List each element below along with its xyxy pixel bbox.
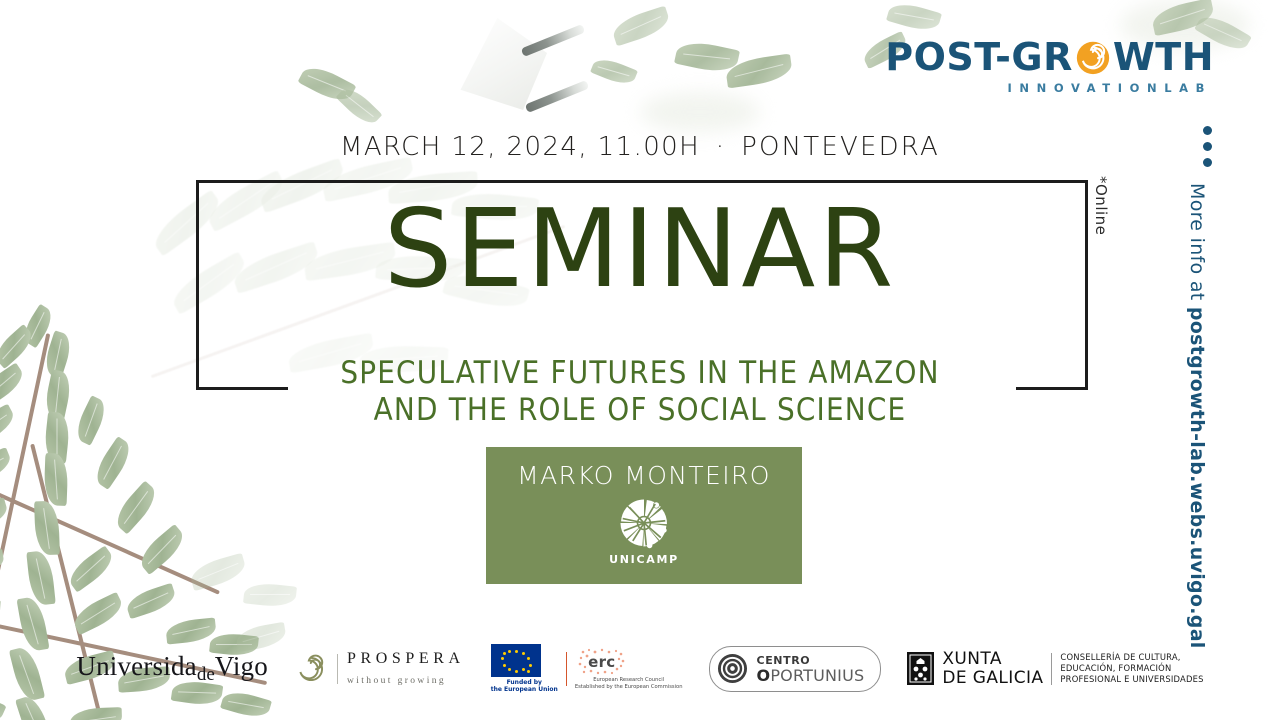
leaf-icon	[610, 6, 673, 47]
spiral-icon	[294, 652, 328, 686]
erc-caption-line-1: European Research Council	[593, 677, 664, 683]
online-note: *Online	[1092, 176, 1110, 235]
xunta-name-line-2: DE GALICIA	[942, 668, 1043, 688]
spiral-icon	[1074, 38, 1112, 76]
uvigo-part1: Universida	[76, 651, 196, 681]
post-growth-logo: POST-GR WTH INNOVATIONLAB	[885, 38, 1214, 95]
erc-caption-line-2: Established by the European Commission	[575, 684, 683, 690]
unicamp-spiral-icon	[616, 495, 672, 551]
eu-flag-icon	[491, 644, 541, 677]
website-url[interactable]: postgrowth-lab.webs.uvigo.gal	[1186, 307, 1208, 649]
more-info-rail: More info at postgrowth-lab.webs.uvigo.g…	[1186, 126, 1226, 649]
date-separator: ·	[710, 132, 732, 162]
leaf-icon	[336, 83, 383, 129]
footer-logo-strip: UniversidadeVigo PROSPERA without growin…	[0, 644, 1280, 694]
oportunius-accent: O	[757, 666, 771, 685]
target-circles-icon	[717, 653, 748, 684]
eu-caption-line-1: Funded by	[507, 679, 542, 686]
uvigo-part2: de	[197, 664, 215, 685]
leaf-icon	[725, 54, 794, 89]
event-date-location: MARCH 12, 2024, 11.00H · PONTEVEDRA	[0, 132, 1280, 162]
three-dots-icon	[1186, 126, 1226, 167]
eu-erc-logos: Funded by the European Union	[491, 644, 683, 694]
oportunius-logo: CENTRO OPORTUNIUS	[709, 646, 882, 693]
uvigo-part3: Vigo	[215, 651, 268, 681]
uvigo-logo: UniversidadeVigo	[76, 651, 268, 686]
logo-text-right: WTH	[1113, 38, 1214, 76]
logo-text-left: POST-GR	[885, 38, 1073, 76]
erc-word: erc	[575, 647, 629, 677]
speaker-name: MARKO MONTEIRO	[517, 461, 771, 490]
more-info-text: More info at postgrowth-lab.webs.uvigo.g…	[1186, 183, 1208, 649]
plug-pin	[525, 80, 590, 113]
plug-illustration	[455, 18, 547, 110]
post-growth-wordmark: POST-GR WTH	[885, 38, 1214, 76]
leaf-icon	[188, 553, 248, 592]
leaf-icon	[298, 61, 357, 108]
eu-flag-logo: Funded by the European Union	[491, 644, 558, 694]
divider	[337, 654, 338, 684]
speaker-card: MARKO MONTEIRO	[486, 447, 802, 584]
prospera-logo: PROSPERA without growing	[294, 649, 465, 689]
page-title: SEMINAR	[0, 195, 1280, 305]
leaf-icon	[1150, 0, 1216, 36]
seminar-poster: POST-GR WTH INNOVATIONLAB MARCH 12, 2024…	[0, 0, 1280, 720]
subtitle-line-2: AND THE ROLE OF SOCIAL SCIENCE	[0, 392, 1280, 429]
leaf-icon	[243, 581, 297, 608]
oportunius-top: CENTRO	[757, 654, 811, 667]
soft-blob	[640, 92, 760, 132]
prospera-tagline: without growing	[347, 676, 446, 686]
xunta-name-line-1: XUNTA	[942, 649, 1002, 669]
leaf-icon	[886, 0, 942, 35]
more-info-lead: More info at	[1186, 183, 1208, 307]
divider	[1051, 653, 1052, 685]
xunta-dept-line-1: CONSELLERÍA DE CULTURA,	[1060, 652, 1180, 662]
xunta-dept-line-3: PROFESIONAL E UNIVERSIDADES	[1060, 674, 1203, 684]
oportunius-bottom: PORTUNIUS	[770, 666, 864, 685]
frame-edge-top	[196, 180, 1088, 183]
xunta-shield-icon	[907, 652, 934, 685]
erc-logo: erc European Research Council Establishe…	[575, 647, 683, 691]
prospera-name: PROSPERA	[347, 650, 465, 667]
logo-subtitle: INNOVATIONLAB	[885, 81, 1214, 95]
erc-dots-icon: erc	[575, 647, 629, 677]
leaf-icon	[590, 54, 638, 88]
eu-caption-line-2: the European Union	[491, 686, 558, 693]
xunta-logo: XUNTA DE GALICIA CONSELLERÍA DE CULTURA,…	[907, 650, 1203, 688]
speaker-affiliation: UNICAMP	[609, 553, 679, 566]
xunta-dept-line-2: EDUCACIÓN, FORMACIÓN	[1060, 663, 1171, 673]
divider	[566, 652, 567, 686]
event-date: MARCH 12, 2024, 11.00H	[340, 132, 700, 162]
subtitle-line-1: SPECULATIVE FUTURES IN THE AMAZON	[0, 355, 1280, 392]
event-subtitle: SPECULATIVE FUTURES IN THE AMAZON AND TH…	[0, 355, 1280, 428]
event-place: PONTEVEDRA	[741, 132, 940, 162]
plug-pin	[521, 24, 586, 57]
leaf-icon	[674, 38, 740, 76]
